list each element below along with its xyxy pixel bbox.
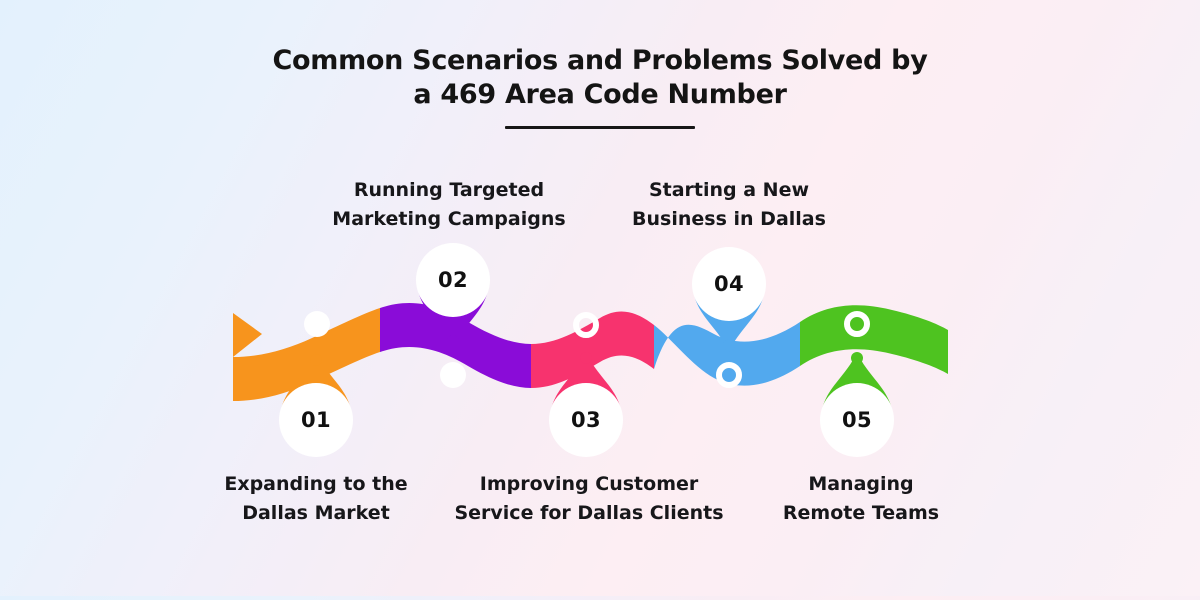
step-badge-04-number: 04 <box>714 272 744 296</box>
step-badge-01[interactable]: 01 <box>279 383 353 457</box>
band-marker-04-ring <box>719 365 739 385</box>
page-title: Common Scenarios and Problems Solved by … <box>0 44 1200 129</box>
band-marker-02-solid-dot <box>440 362 466 388</box>
ribbon-segment-05 <box>800 305 948 374</box>
ribbon-segment-04 <box>654 322 800 386</box>
step-badge-01-number: 01 <box>301 408 331 432</box>
infographic-canvas: Common Scenarios and Problems Solved by … <box>0 0 1200 596</box>
band-marker-05-ring <box>847 314 867 334</box>
step-badge-05[interactable]: 05 <box>820 383 894 457</box>
step-badge-02[interactable]: 02 <box>416 243 490 317</box>
title-line-2: a 469 Area Code Number <box>0 78 1200 112</box>
step-badge-04[interactable]: 04 <box>692 247 766 321</box>
step-badge-03[interactable]: 03 <box>549 383 623 457</box>
step-caption-01: Expanding to the Dallas Market <box>176 470 456 528</box>
step-badge-03-number: 03 <box>571 408 601 432</box>
step-caption-03: Improving Customer Service for Dallas Cl… <box>439 470 739 528</box>
pin-dot-01 <box>310 354 322 366</box>
step-caption-02: Running Targeted Marketing Campaigns <box>309 176 589 234</box>
step-caption-05: Managing Remote Teams <box>721 470 1001 528</box>
band-marker-01-solid-dot <box>304 311 330 337</box>
pin-dot-02 <box>447 335 459 347</box>
step-badge-05-number: 05 <box>842 408 872 432</box>
band-markers <box>304 311 867 388</box>
step-caption-04: Starting a New Business in Dallas <box>589 176 869 234</box>
ribbon-segment-03 <box>531 312 654 388</box>
pin-dot-04 <box>723 339 735 351</box>
title-line-1: Common Scenarios and Problems Solved by <box>0 44 1200 78</box>
step-badge-02-number: 02 <box>438 268 468 292</box>
title-divider <box>505 126 695 129</box>
band-marker-03-ring <box>576 315 596 335</box>
pin-dot-03 <box>580 352 592 364</box>
pin-dot-05 <box>851 352 863 364</box>
